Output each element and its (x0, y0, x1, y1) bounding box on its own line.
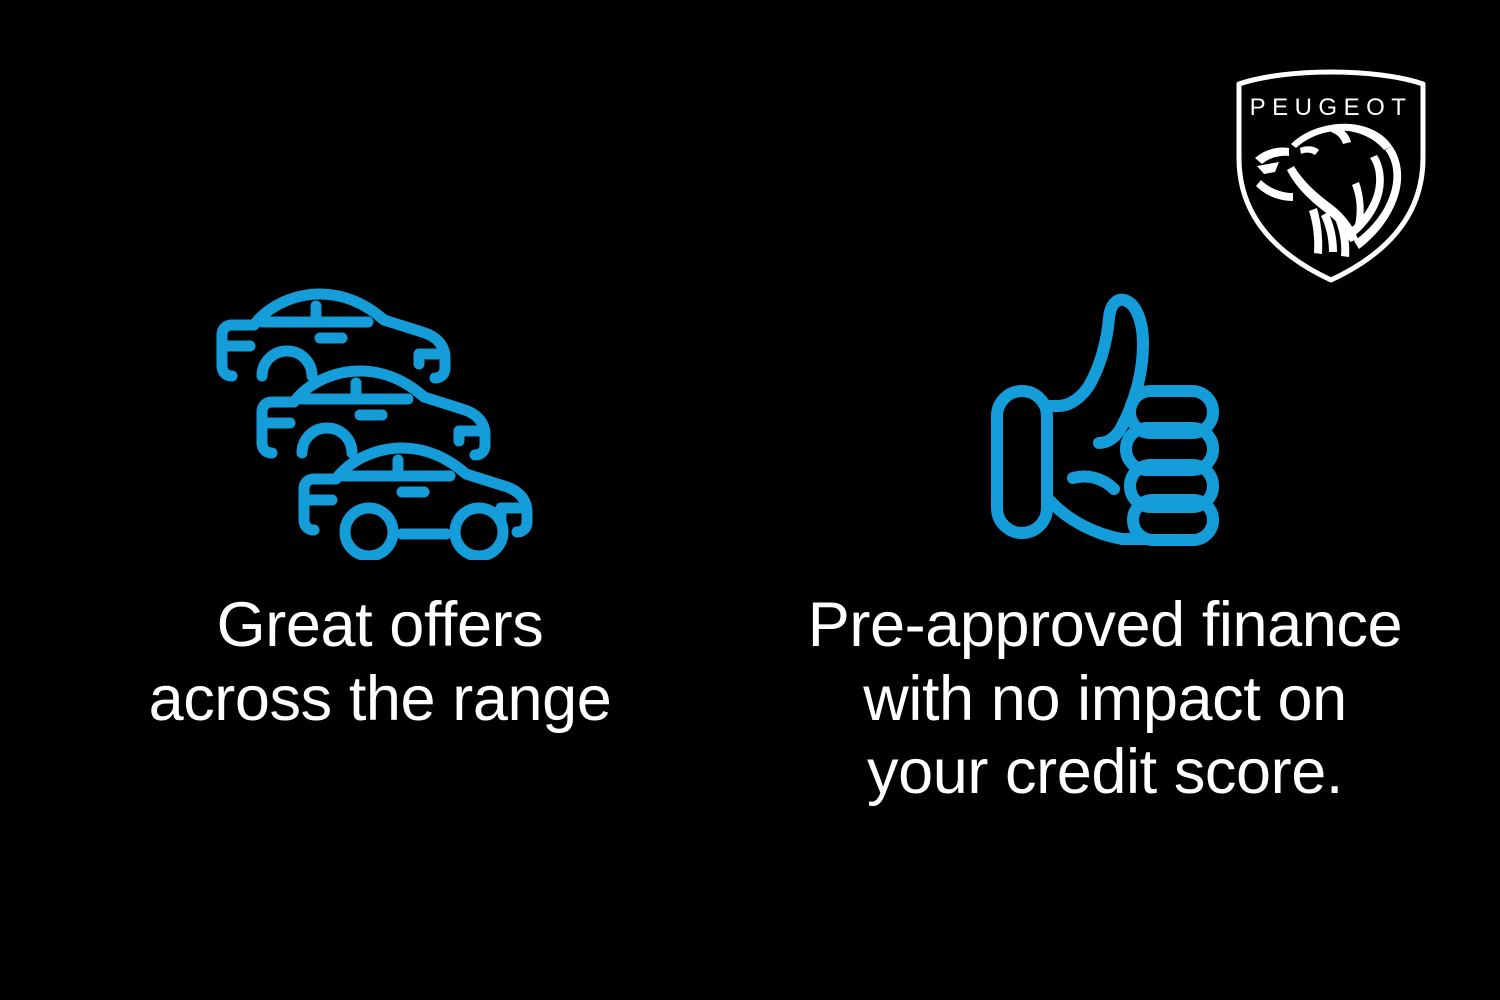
peugeot-wordmark: PEUGEOT (1250, 94, 1413, 121)
peugeot-shield-lion-logo: PEUGEOT (1231, 62, 1431, 284)
feature-label: Pre-approved finance with no impact on y… (805, 589, 1405, 810)
feature-item-great-offers: Great offers across the range (30, 275, 730, 736)
feature-item-pre-approved-finance: Pre-approved finance with no impact on y… (755, 275, 1455, 810)
three-cars-icon (208, 275, 553, 565)
feature-label: Great offers across the range (145, 589, 615, 736)
thumbs-up-icon (990, 275, 1220, 565)
feature-list: Great offers across the range (0, 275, 1500, 915)
promo-banner: PEUGEOT (0, 0, 1500, 1000)
